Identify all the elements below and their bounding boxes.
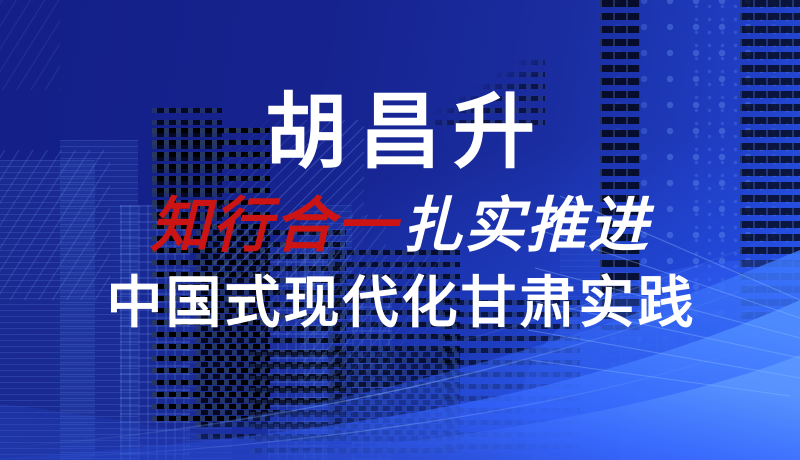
banner-subtitle: 中国式现代化甘肃实践 — [104, 276, 697, 332]
page-title: 胡昌升 — [253, 92, 547, 174]
promotional-banner: 胡昌升 知行合一 扎实推进 中国式现代化甘肃实践 — [0, 0, 800, 460]
slogan-white-text: 扎实推进 — [402, 196, 650, 256]
slogan-red-text: 知行合一 — [150, 196, 398, 256]
banner-content: 胡昌升 知行合一 扎实推进 中国式现代化甘肃实践 — [0, 0, 800, 460]
slogan-row: 知行合一 扎实推进 — [150, 196, 650, 256]
